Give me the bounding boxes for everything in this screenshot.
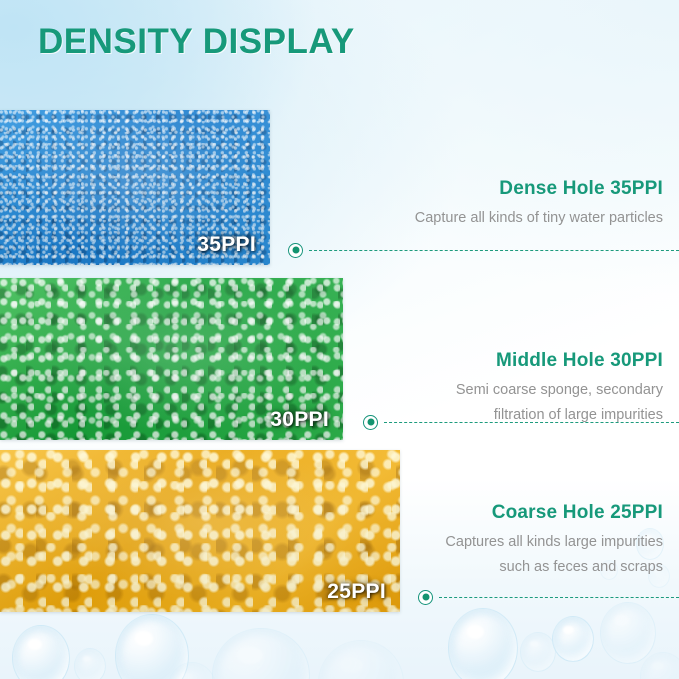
- info-block-coarse: Coarse Hole 25PPI Captures all kinds lar…: [243, 502, 663, 580]
- page-title: DENSITY DISPLAY: [38, 22, 355, 62]
- connector-dot-dense: [288, 243, 303, 258]
- sponge-swatch-dense: 35PPI: [0, 110, 270, 265]
- connector-dash-coarse: [439, 597, 679, 598]
- description-coarse-line-1: Captures all kinds large impurities: [243, 530, 663, 555]
- connector-dot-coarse: [418, 590, 433, 605]
- connector-dot-middle: [363, 415, 378, 430]
- description-middle-line-1: Semi coarse sponge, secondary: [243, 378, 663, 403]
- connector-dash-middle: [384, 422, 679, 423]
- swatch-label-dense: 35PPI: [197, 233, 256, 257]
- connector-dash-dense: [309, 250, 679, 251]
- heading-dense: Dense Hole 35PPI: [243, 178, 663, 200]
- info-block-dense: Dense Hole 35PPI Capture all kinds of ti…: [243, 178, 663, 231]
- heading-middle: Middle Hole 30PPI: [243, 350, 663, 372]
- connector-dense: [288, 242, 679, 258]
- heading-coarse: Coarse Hole 25PPI: [243, 502, 663, 524]
- description-coarse-line-2: such as feces and scraps: [243, 555, 663, 580]
- swatch-label-coarse: 25PPI: [327, 580, 386, 604]
- description-dense-line-1: Capture all kinds of tiny water particle…: [243, 206, 663, 231]
- connector-middle: [363, 414, 679, 430]
- connector-coarse: [418, 589, 679, 605]
- density-display-infographic: DENSITY DISPLAY 35PPI Dense Hole 35PPI C…: [0, 0, 679, 679]
